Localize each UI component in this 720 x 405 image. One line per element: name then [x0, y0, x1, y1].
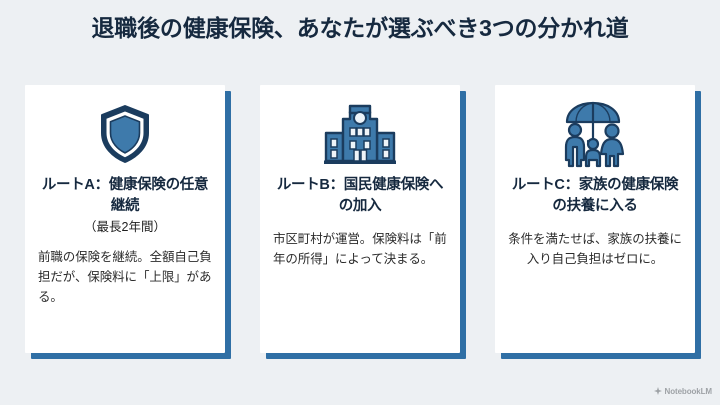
card-heading: ルートB：国民健康保険への加入: [273, 175, 447, 217]
notebooklm-spark-icon: [654, 382, 662, 400]
card-route-a[interactable]: ルートA：健康保険の任意継続 （最長2年間） 前職の保険を継続。全額自己負担だが…: [25, 85, 225, 353]
card-route-b[interactable]: ルートB：国民健康保険への加入 市区町村が運営。保険料は「前年の所得」によって決…: [260, 85, 460, 353]
card-route-c[interactable]: ルートC：家族の健康保険の扶養に入る 条件を満たせば、家族の扶養に入り自己負担は…: [495, 85, 695, 353]
card-body: ルートC：家族の健康保険の扶養に入る 条件を満たせば、家族の扶養に入り自己負担は…: [495, 85, 695, 353]
shield-icon: [98, 99, 152, 169]
card-description: 前職の保険を継続。全額自己負担だが、保険料に「上限」がある。: [38, 247, 212, 308]
card-description: 条件を満たせば、家族の扶養に入り自己負担はゼロに。: [508, 229, 682, 270]
slide-canvas: 退職後の健康保険、あなたが選ぶべき3つの分かれ道 ルートA：健康保険の任意継続 …: [0, 0, 720, 405]
card-subtitle: （最長2年間）: [38, 219, 212, 237]
family-umbrella-icon: [555, 99, 635, 169]
card-heading: ルートA：健康保険の任意継続: [38, 175, 212, 217]
page-title: 退職後の健康保険、あなたが選ぶべき3つの分かれ道: [0, 14, 720, 44]
card-row: ルートA：健康保険の任意継続 （最長2年間） 前職の保険を継続。全額自己負担だが…: [25, 85, 695, 355]
card-heading: ルートC：家族の健康保険の扶養に入る: [508, 175, 682, 217]
card-body: ルートA：健康保険の任意継続 （最長2年間） 前職の保険を継続。全額自己負担だが…: [25, 85, 225, 353]
watermark-label: NotebookLM: [665, 387, 712, 396]
card-description: 市区町村が運営。保険料は「前年の所得」によって決まる。: [273, 229, 447, 270]
government-building-icon: [324, 99, 396, 169]
notebooklm-watermark: NotebookLM: [654, 382, 712, 400]
card-body: ルートB：国民健康保険への加入 市区町村が運営。保険料は「前年の所得」によって決…: [260, 85, 460, 353]
